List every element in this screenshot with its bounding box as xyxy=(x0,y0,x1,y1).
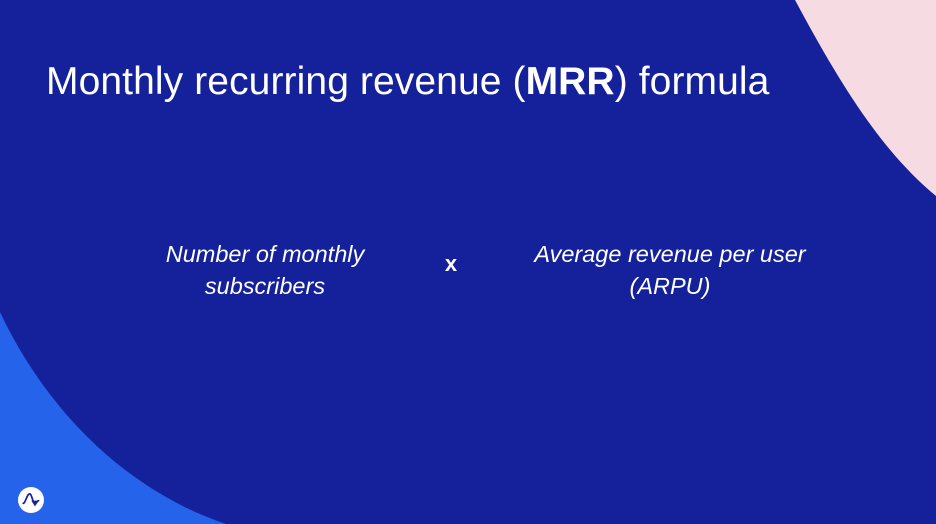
page-title-suffix: ) formula xyxy=(615,60,770,103)
logo-circle-background xyxy=(18,487,44,513)
slide-content: Monthly recurring revenue (MRR) formula … xyxy=(0,0,936,524)
formula-expression: Number of monthly subscribers x Average … xyxy=(0,238,936,310)
formula-term-subscribers: Number of monthly subscribers xyxy=(125,238,405,302)
formula-term-arpu: Average revenue per user (ARPU) xyxy=(520,238,820,302)
formula-operator-multiply: x xyxy=(421,248,481,280)
page-title-emphasis: MRR xyxy=(526,60,615,103)
page-title: Monthly recurring revenue (MRR) formula xyxy=(46,58,769,106)
slide-canvas: Monthly recurring revenue (MRR) formula … xyxy=(0,0,936,524)
amplitude-logo-icon xyxy=(18,487,44,513)
page-title-prefix: Monthly recurring revenue ( xyxy=(46,60,526,103)
